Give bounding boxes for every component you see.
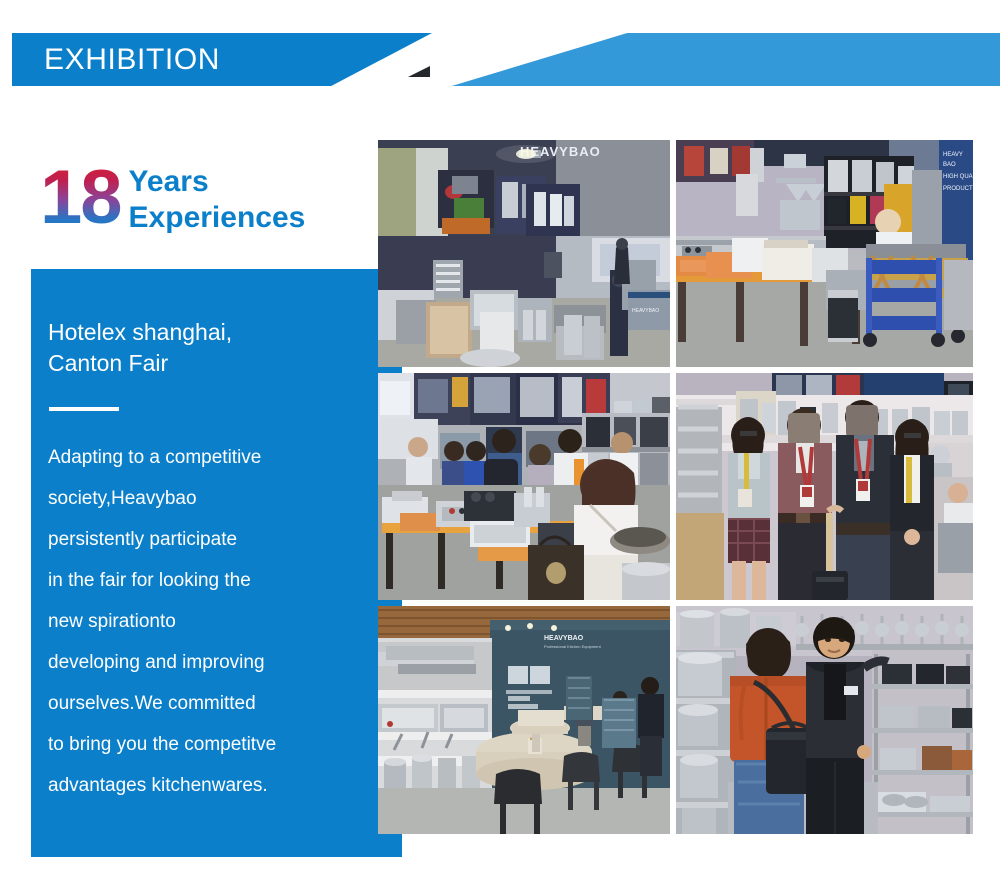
panel-title-line1: Hotelex shanghai, [48,317,372,348]
exhibition-banner: EXHIBITION [12,33,432,86]
panel-description-line: ourselves.We committed [48,683,372,724]
panel-description-line: Adapting to a competitive [48,437,372,478]
visitors-browsing-counter-image [378,373,670,600]
group-photo-four-people-image [676,373,973,600]
svg-text:HIGH QUAL: HIGH QUAL [943,174,973,180]
years-label-line2: Experiences [129,200,306,236]
panel-description-line: in the fair for looking the [48,560,372,601]
panel-title-line2: Canton Fair [48,348,372,379]
showroom-equipment-blue-cart-image: HEAVY BAO HIGH QUAL PRODUCTS [676,140,973,367]
panel-description-line: persistently participate [48,519,372,560]
gallery-photo[interactable] [676,373,973,600]
page-title: EXHIBITION [44,33,220,86]
svg-text:Professional Kitchen Equipment: Professional Kitchen Equipment [544,644,602,649]
banner-corner-notch-icon [408,66,430,77]
panel-description-line: society,Heavybao [48,478,372,519]
panel-title: Hotelex shanghai, Canton Fair [48,317,372,379]
gallery-photo[interactable]: HEAVYBAO [378,140,670,367]
years-label-block: Years Experiences [129,164,306,236]
gallery-photo[interactable]: HEAVY BAO HIGH QUAL PRODUCTS [676,140,973,367]
gallery-photo[interactable] [676,606,973,834]
panel-description: Adapting to a competitive society,Heavyb… [48,437,372,806]
panel-description-line: advantages kitchenwares. [48,765,372,806]
years-experience-badge: 18 Years Experiences [40,158,305,238]
banner-light-shape [352,33,1000,86]
svg-text:HEAVYBAO: HEAVYBAO [632,308,659,314]
info-panel: Hotelex shanghai, Canton Fair Adapting t… [31,269,402,857]
panel-description-line: developing and improving [48,642,372,683]
panel-description-line: new spirationto [48,601,372,642]
showroom-tables-chairs-image: HEAVYBAO Professional Kitchen Equipment [378,606,670,834]
svg-text:BAO: BAO [943,162,956,168]
panel-divider [49,407,119,411]
svg-text:PRODUCTS: PRODUCTS [943,186,973,192]
gallery-photo[interactable]: HEAVYBAO Professional Kitchen Equipment [378,606,670,834]
booth-heavybao-banner-image: HEAVYBAO [378,140,670,367]
gallery-photo[interactable] [378,373,670,600]
exhibition-photo-grid: HEAVYBAO [378,140,973,834]
panel-description-line: to bring you the competitve [48,724,372,765]
two-men-stainless-shelves-image [676,606,973,834]
years-label-line1: Years [129,164,306,200]
years-number: 18 [40,158,121,238]
svg-text:HEAVY: HEAVY [943,152,963,158]
svg-text:HEAVYBAO: HEAVYBAO [544,635,584,642]
